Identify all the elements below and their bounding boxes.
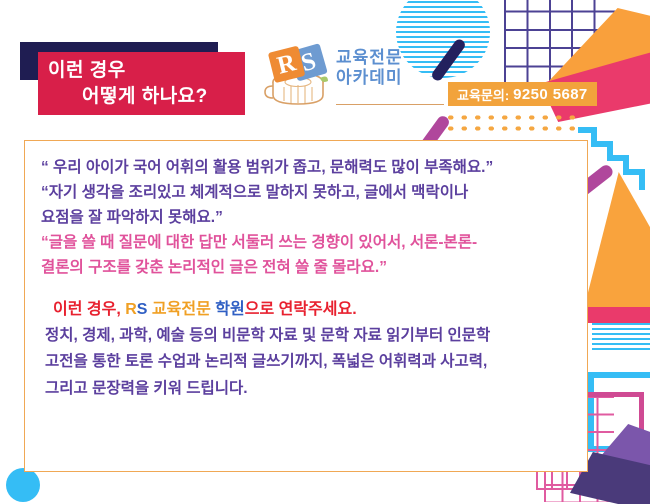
quote-line: “ 우리 아이가 국어 어휘의 활용 범위가 좁고, 문해력도 많이 부족해요.… xyxy=(41,155,571,180)
cta-logo-letter-r: R xyxy=(125,301,137,318)
body-line: 정치, 경제, 과학, 예술 등의 비문학 자료 및 문학 자료 읽기부터 인문… xyxy=(41,323,571,350)
call-to-action-line: 이런 경우, RS 교육전문 학원으로 연락주세요. xyxy=(41,296,571,323)
pink-band-decoration xyxy=(584,307,650,323)
cta-part-1: 이런 경우, xyxy=(53,301,121,318)
rs-academy-logo-icon: S R xyxy=(262,38,332,110)
quote-line: 결론의 구조를 갖춘 논리적인 글은 전혀 쓸 줄 몰라요.” xyxy=(41,255,571,280)
cta-part-2: 교육전문 xyxy=(152,301,211,318)
body-line: 그리고 문장력을 키워 드립니다. xyxy=(41,376,571,403)
title-banner: 이런 경우 어떻게 하나요? xyxy=(38,52,245,115)
quote-line: “글을 쓸 때 질문에 대한 답만 서둘러 쓰는 경향이 있어서, 서론-본론- xyxy=(41,230,571,255)
cyan-square-outline-decoration xyxy=(588,372,650,452)
purple-polygon-light-decoration xyxy=(584,424,650,496)
cta-part-4: 으로 연락주세요. xyxy=(245,301,357,318)
body-line: 고전을 통한 토론 수업과 논리적 글쓰기까지, 폭넓은 어휘력과 사고력, xyxy=(41,349,571,376)
contact-badge[interactable]: 교육문의: 9250 5687 xyxy=(448,82,597,106)
title-line-2: 어떻게 하나요? xyxy=(48,84,235,109)
navy-diagonal-bar-decoration xyxy=(430,37,467,82)
contact-phone-number: 9250 5687 xyxy=(513,86,588,103)
title-line-1: 이런 경우 xyxy=(48,58,235,83)
poster-root: 이런 경우 어떻게 하나요? S R 교육전문 아카데미 교육문의: 9250 … xyxy=(0,0,650,504)
logo-text-line-2: 아카데미 xyxy=(336,68,403,88)
logo-text-line-1: 교육전문 xyxy=(336,48,403,68)
logo-wordmark: 교육전문 아카데미 xyxy=(336,48,403,87)
content-spacer xyxy=(41,281,571,296)
quote-line: 요점을 잘 파악하지 못해요.” xyxy=(41,205,571,230)
quote-line: “자기 생각을 조리있고 체계적으로 말하지 못하고, 글에서 맥락이나 xyxy=(41,180,571,205)
contact-label: 교육문의: xyxy=(457,85,509,104)
cyan-circle-decoration xyxy=(6,468,40,502)
content-card: “ 우리 아이가 국어 어휘의 활용 범위가 좁고, 문해력도 많이 부족해요.… xyxy=(24,140,588,472)
cta-logo-letter-s: S xyxy=(137,301,148,318)
logo-underline-rule xyxy=(336,104,444,105)
striped-circle-decoration xyxy=(396,0,490,78)
cta-part-3: 학원 xyxy=(215,301,244,318)
cyan-stripes-decoration xyxy=(592,323,650,351)
orange-dots-decoration xyxy=(444,112,576,132)
orange-triangle-decoration xyxy=(584,172,650,320)
purple-grid-decoration xyxy=(504,0,616,84)
pink-grid-strip-decoration xyxy=(536,470,626,490)
